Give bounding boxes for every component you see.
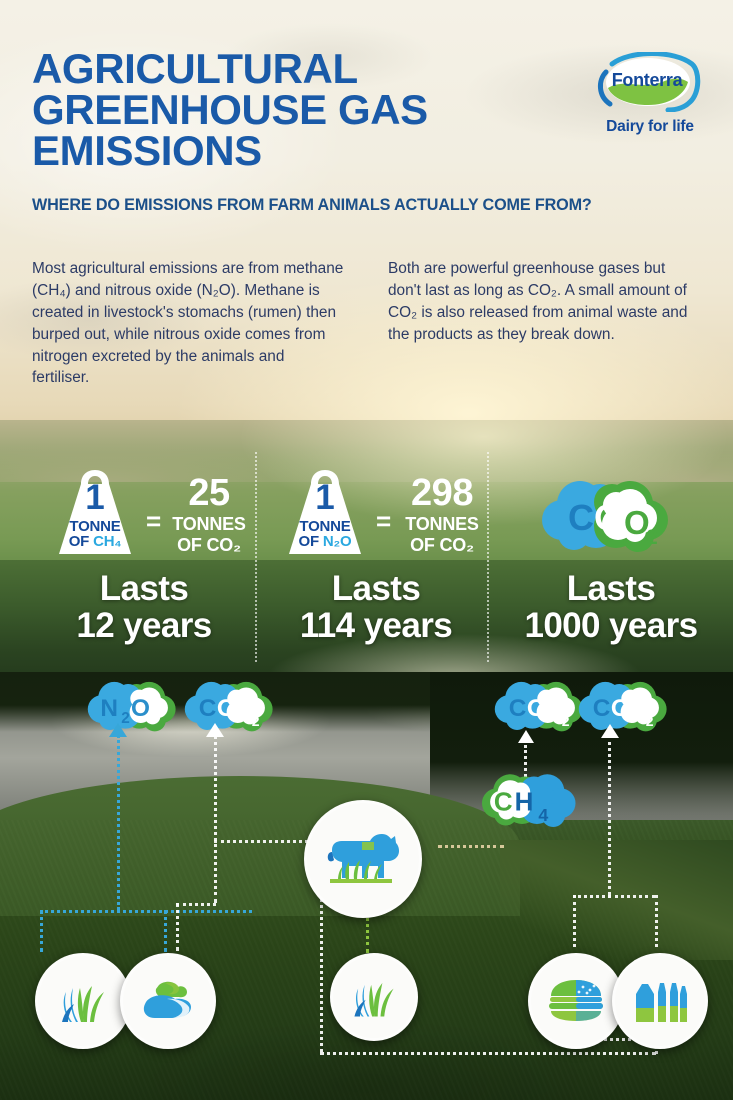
svg-text:C: C: [593, 695, 611, 722]
fertiliser-grass-icon: [54, 972, 112, 1030]
header: AGRICULTURAL GREENHOUSE GAS EMISSIONS WH…: [32, 48, 592, 215]
equivalence-row: 1 TONNE OF CH₄ = 25 TONNES OF CO₂ 1 TONN…: [0, 466, 733, 562]
milk-products-icon: [630, 974, 690, 1028]
equivalent-line1-ch4: TONNES: [160, 514, 258, 535]
connector-manure-stem: [164, 910, 167, 952]
svg-text:4: 4: [538, 805, 548, 825]
co2-cloud-icon: C O O 2: [492, 676, 584, 738]
n2o-cloud-icon: N 2 O: [85, 676, 177, 738]
connector-co2b-vertical: [608, 735, 611, 895]
fonterra-logo: Fonterra Dairy for life: [588, 52, 712, 140]
weight-icon-ch4: 1 TONNE OF CH₄: [47, 466, 143, 558]
connector-co2left-to-cow: [214, 840, 320, 843]
equivalent-n2o: 298 TONNES OF CO₂: [390, 474, 494, 555]
fertiliser-grass-node[interactable]: [35, 953, 131, 1049]
weight-line2-ch4: OF CH₄: [47, 533, 143, 550]
weight-icon-n2o: 1 TONNE OF N₂O: [277, 466, 373, 558]
weight-number-ch4: 1: [47, 480, 143, 515]
connector-n2o-vertical: [117, 735, 120, 910]
page-title-line-3: EMISSIONS: [32, 130, 592, 171]
co2-cloud-icon: C O O 2: [182, 676, 274, 738]
connector-cow-to-ch4: [438, 845, 504, 848]
lasts-value-n2o: 114 years: [276, 607, 476, 644]
lasts-value-ch4: 12 years: [44, 607, 244, 644]
svg-text:C: C: [199, 695, 217, 722]
weight-of-label-ch4: OF: [69, 533, 93, 550]
svg-text:N: N: [100, 695, 118, 722]
weight-of-label-n2o: OF: [299, 533, 323, 550]
equivalent-line2-ch4: OF CO₂: [160, 535, 258, 556]
svg-text:C: C: [494, 787, 513, 817]
svg-text:C: C: [568, 497, 594, 538]
equivalent-line2-n2o: OF CO₂: [390, 535, 494, 556]
connector-co2left-branch: [176, 903, 216, 906]
equivalent-ch4: 25 TONNES OF CO₂: [160, 474, 258, 555]
svg-text:2: 2: [562, 713, 570, 729]
background-right-shore: [500, 840, 733, 960]
connector-fertiliser-stem: [40, 910, 43, 952]
connector-co2left-stem: [176, 903, 179, 951]
connector-products-stem: [655, 895, 658, 947]
intro-paragraph-left: Most agricultural emissions are from met…: [32, 258, 344, 389]
svg-text:H: H: [515, 787, 534, 817]
lasts-label-co2: Lasts: [492, 570, 730, 607]
equals-sign-2: =: [376, 506, 391, 537]
page-title-line-1: AGRICULTURAL: [32, 48, 592, 89]
logo-mark: Fonterra: [588, 52, 706, 112]
weight-gas-ch4: CH₄: [93, 533, 121, 550]
connector-burger-stem: [573, 895, 576, 947]
equivalent-value-ch4: 25: [160, 474, 258, 512]
co2-cloud-headline: C O O 2: [538, 474, 670, 560]
svg-text:C: C: [509, 695, 527, 722]
logo-wordmark: Fonterra: [588, 70, 706, 91]
lasts-co2: Lasts 1000 years: [492, 570, 730, 644]
cow-node[interactable]: [304, 800, 422, 918]
weight-gas-n2o: N₂O: [323, 533, 352, 550]
page-title: AGRICULTURAL GREENHOUSE GAS EMISSIONS: [32, 48, 592, 171]
ch4-cloud-icon: C H 4: [479, 768, 577, 834]
milk-products-node[interactable]: [612, 953, 708, 1049]
svg-text:O: O: [131, 695, 150, 722]
logo-tagline: Dairy for life: [588, 118, 712, 136]
equivalent-line1-n2o: TONNES: [390, 514, 494, 535]
weight-line2-n2o: OF N₂O: [277, 533, 373, 550]
svg-text:2: 2: [646, 713, 654, 729]
manure-icon: [139, 977, 197, 1025]
infographic-page: AGRICULTURAL GREENHOUSE GAS EMISSIONS WH…: [0, 0, 733, 1100]
connector-co2b-branch-right: [608, 895, 655, 898]
pasture-grass-node[interactable]: [330, 953, 418, 1041]
equivalent-value-n2o: 298: [390, 474, 494, 512]
page-title-line-2: GREENHOUSE GAS: [32, 89, 592, 130]
intro-columns: Most agricultural emissions are from met…: [32, 258, 704, 389]
manure-node[interactable]: [120, 953, 216, 1049]
food-burger-node[interactable]: [528, 953, 624, 1049]
cow-icon: [322, 828, 404, 890]
connector-bottom-loop: [320, 1052, 656, 1055]
page-subtitle: WHERE DO EMISSIONS FROM FARM ANIMALS ACT…: [32, 196, 592, 215]
connector-co2b-branch-left: [573, 895, 611, 898]
ch4-cloud: C H 4: [479, 768, 577, 834]
equals-sign-1: =: [146, 506, 161, 537]
lasts-label-ch4: Lasts: [44, 570, 244, 607]
co2-cloud-icon: C O O 2: [576, 676, 668, 738]
connector-n2o-horizontal: [40, 910, 252, 913]
lasts-label-n2o: Lasts: [276, 570, 476, 607]
lasts-n2o: Lasts 114 years: [276, 570, 476, 644]
svg-text:2: 2: [121, 710, 130, 727]
intro-paragraph-right: Both are powerful greenhouse gases but d…: [388, 258, 700, 389]
co2-cloud-icon: C O O 2: [538, 474, 670, 560]
svg-text:O: O: [527, 695, 546, 722]
co2-cloud-left: C O O 2: [182, 676, 274, 738]
svg-text:2: 2: [646, 526, 658, 549]
n2o-cloud: N 2 O: [85, 676, 177, 738]
svg-text:O: O: [217, 695, 236, 722]
co2-cloud-right-b: C O O 2: [576, 676, 668, 738]
lasts-ch4: Lasts 12 years: [44, 570, 244, 644]
co2-cloud-right-a: C O O 2: [492, 676, 584, 738]
lasts-value-co2: 1000 years: [492, 607, 730, 644]
svg-text:O: O: [611, 695, 630, 722]
pasture-grass-icon: [347, 970, 401, 1024]
food-burger-icon: [545, 976, 607, 1026]
weight-number-n2o: 1: [277, 480, 373, 515]
svg-text:2: 2: [252, 713, 260, 729]
connector-co2left-vertical: [214, 735, 217, 903]
svg-text:O: O: [594, 497, 622, 538]
